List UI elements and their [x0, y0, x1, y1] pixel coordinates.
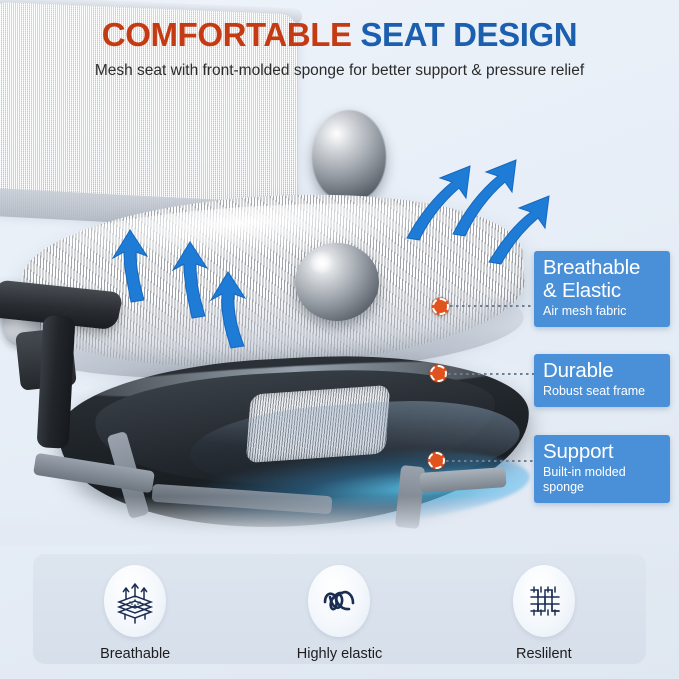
hotspot-durable[interactable] — [430, 365, 447, 382]
feature-highly-elastic-label: Highly elastic — [297, 637, 382, 662]
elastic-icon-circle — [308, 565, 370, 637]
callout-durable-subtitle: Robust seat frame — [543, 382, 661, 399]
elastic-wave-icon — [316, 578, 362, 624]
page-title: COMFORTABLE SEAT DESIGN — [0, 0, 679, 56]
callout-support: Support Built-in molded sponge — [534, 435, 670, 503]
page-subtitle: Mesh seat with front-molded sponge for b… — [0, 56, 679, 81]
callout-breathable-title-line2: & Elastic — [543, 279, 661, 302]
feature-bar: Breathable Highly elastic — [33, 554, 646, 664]
feature-resilient: Reslilent — [442, 554, 646, 664]
connector-line-durable — [448, 373, 534, 375]
breathable-icon-circle — [104, 565, 166, 637]
feature-highly-elastic: Highly elastic — [237, 554, 441, 664]
title-part-comfortable: COMFORTABLE — [102, 16, 352, 53]
connector-line-support — [446, 460, 534, 462]
callout-support-title: Support — [543, 440, 661, 463]
title-part-seat-design: SEAT DESIGN — [360, 16, 577, 53]
callout-durable: Durable Robust seat frame — [534, 354, 670, 407]
woven-lattice-icon — [521, 578, 567, 624]
hotspot-support[interactable] — [428, 452, 445, 469]
callout-breathable-title-line1: Breathable — [543, 256, 661, 279]
header: COMFORTABLE SEAT DESIGN Mesh seat with f… — [0, 0, 679, 88]
callout-breathable: Breathable & Elastic Air mesh fabric — [534, 251, 670, 327]
breathable-mesh-airflow-icon — [112, 578, 158, 624]
callout-support-subtitle: Built-in molded sponge — [543, 463, 661, 495]
steel-ball-upper — [312, 110, 386, 202]
steel-ball-lower — [295, 243, 379, 321]
infographic-stage: COMFORTABLE SEAT DESIGN Mesh seat with f… — [0, 0, 679, 679]
callout-durable-title: Durable — [543, 359, 661, 382]
feature-breathable: Breathable — [33, 554, 237, 664]
feature-breathable-label: Breathable — [100, 637, 170, 662]
connector-line-breathable — [450, 305, 534, 307]
resilient-icon-circle — [513, 565, 575, 637]
feature-resilient-label: Reslilent — [516, 637, 572, 662]
callout-breathable-subtitle: Air mesh fabric — [543, 302, 661, 319]
scene-bottom-fade — [0, 496, 679, 545]
hotspot-breathable[interactable] — [432, 298, 449, 315]
